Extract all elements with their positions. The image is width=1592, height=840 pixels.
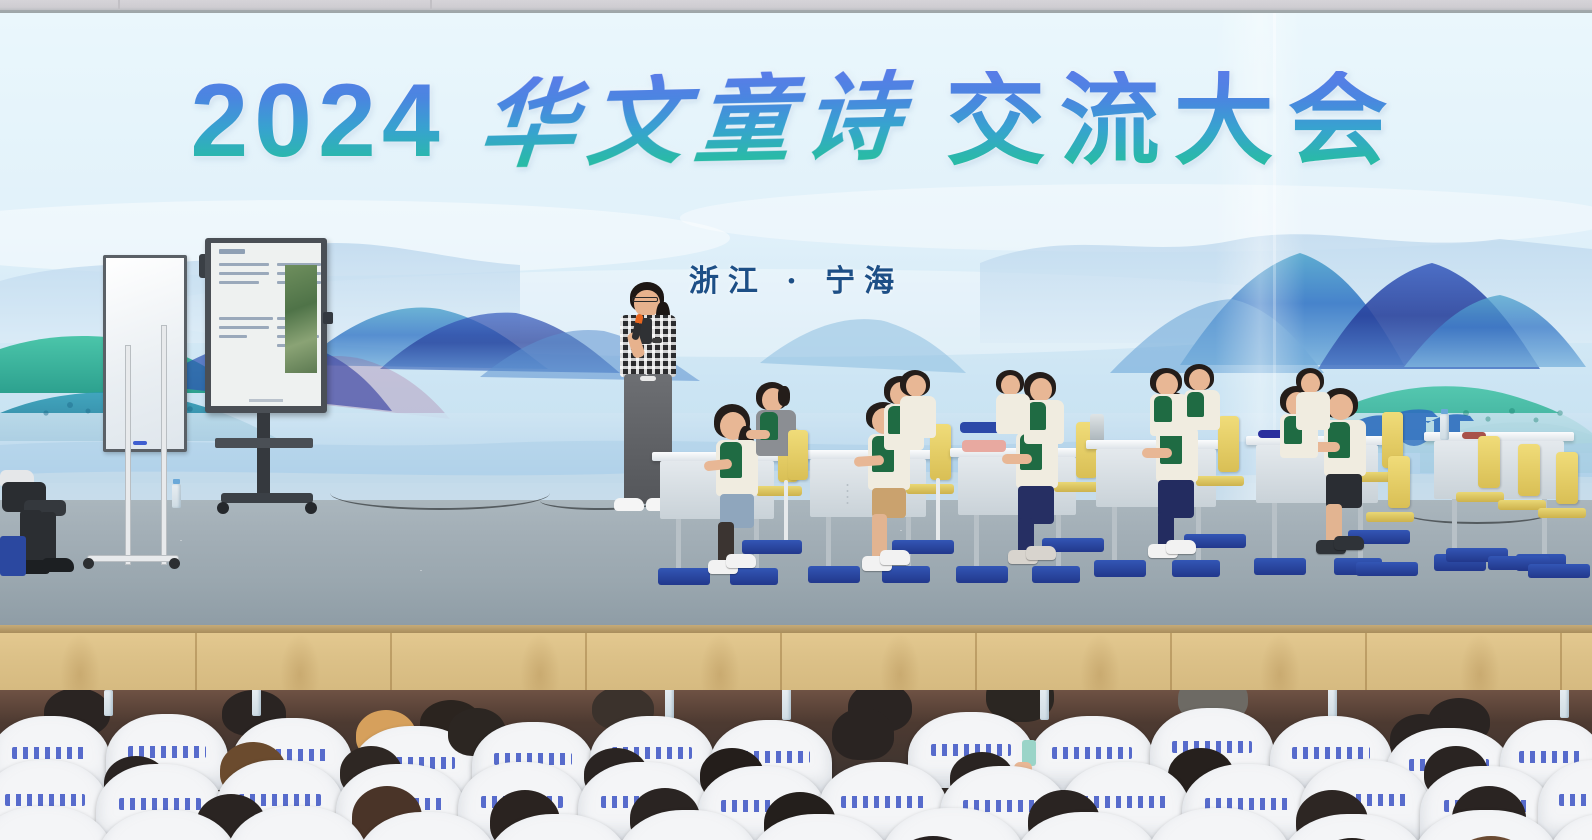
audience-seating <box>0 690 1592 840</box>
empty-chair-base <box>1528 564 1590 578</box>
water-bottle[interactable] <box>1040 690 1049 720</box>
empty-chair-seat[interactable] <box>1366 512 1414 522</box>
student <box>988 370 1042 480</box>
water-bottle[interactable] <box>252 690 261 716</box>
student-seating-area <box>0 0 1592 625</box>
empty-chair-back[interactable] <box>788 430 808 480</box>
student <box>1174 364 1232 484</box>
water-bottle[interactable] <box>1560 690 1569 718</box>
student <box>1288 368 1342 478</box>
empty-chair-seat[interactable] <box>1538 508 1586 518</box>
water-bottle[interactable] <box>104 690 113 716</box>
empty-chair-back[interactable] <box>1478 436 1500 488</box>
empty-chair-back[interactable] <box>1518 444 1540 496</box>
water-bottle[interactable] <box>1440 414 1449 440</box>
water-bottle[interactable] <box>782 690 791 720</box>
audience-head <box>832 708 894 760</box>
empty-chair-back[interactable] <box>1388 456 1410 508</box>
empty-chair-back[interactable] <box>1556 452 1578 504</box>
student <box>892 370 948 490</box>
screenshot-root: 2024 华文童诗 交流大会 浙江 · 宁海 <box>0 0 1592 840</box>
water-bottle[interactable] <box>665 690 674 720</box>
thermos-cup[interactable] <box>1090 414 1104 442</box>
empty-chair-seat[interactable] <box>1456 492 1504 502</box>
stage-edge-trim <box>0 625 1592 633</box>
empty-chair-base <box>1356 562 1418 576</box>
